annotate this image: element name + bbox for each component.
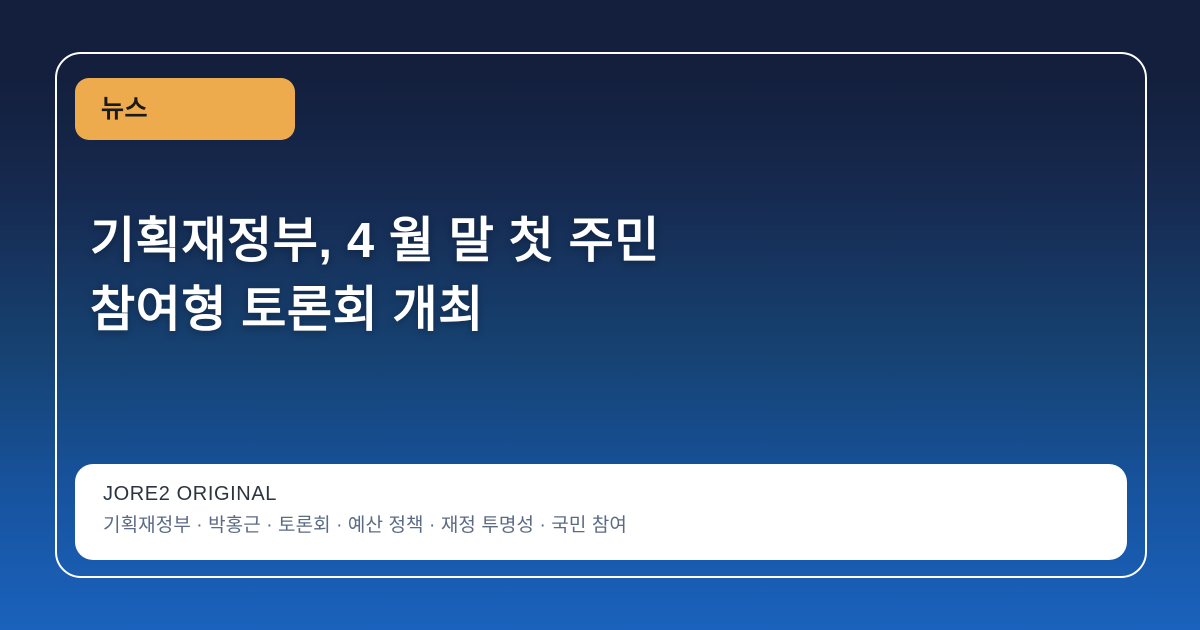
footer-card: JORE2 ORIGINAL 기획재정부 · 박홍근 · 토론회 · 예산 정책… [75,464,1127,560]
page-title: 기획재정부, 4 월 말 첫 주민 참여형 토론회 개최 [90,207,1090,346]
category-badge: 뉴스 [75,78,295,140]
article-card-frame: 뉴스 기획재정부, 4 월 말 첫 주민 참여형 토론회 개최 JORE2 OR… [55,52,1147,578]
og-image-canvas: 뉴스 기획재정부, 4 월 말 첫 주민 참여형 토론회 개최 JORE2 OR… [0,0,1200,630]
category-badge-row: 뉴스 [75,78,295,140]
tag-list: 기획재정부 · 박홍근 · 토론회 · 예산 정책 · 재정 투명성 · 국민 … [103,514,1099,539]
brand-label: JORE2 ORIGINAL [103,482,1099,507]
